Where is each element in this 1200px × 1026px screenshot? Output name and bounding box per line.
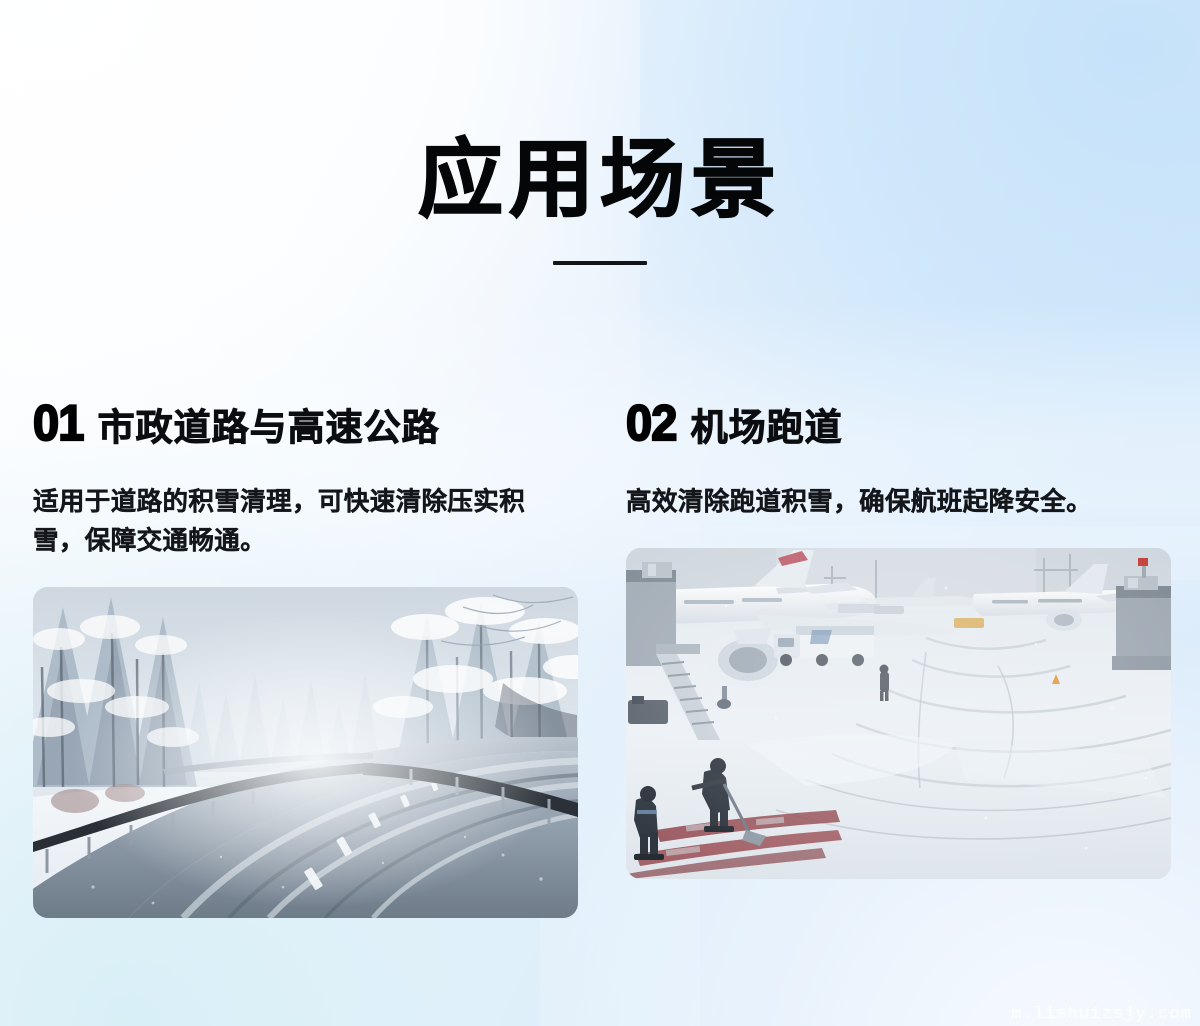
scenario-photo-snowy-highway	[33, 587, 578, 918]
scenario-card-01: 01 市政道路与高速公路 适用于道路的积雪清理，可快速清除压实积雪，保障交通畅通…	[33, 398, 578, 998]
scenario-description-01: 适用于道路的积雪清理，可快速清除压实积雪，保障交通畅通。	[33, 483, 573, 561]
scenario-heading-01: 01 市政道路与高速公路	[33, 398, 578, 454]
scenario-card-02: 02 机场跑道 高效清除跑道积雪，确保航班起降安全。	[626, 398, 1171, 998]
scenario-number-02: 02	[626, 398, 676, 448]
scenario-title-01: 市政道路与高速公路	[98, 409, 440, 446]
title-divider	[553, 261, 647, 265]
application-scenarios-page: 应用场景 01 市政道路与高速公路 适用于道路的积雪清理，可快速清除压实积雪，保…	[0, 0, 1200, 1026]
scenario-photo-airport-runway	[626, 548, 1171, 879]
scenario-title-02: 机场跑道	[691, 409, 843, 446]
scenario-columns: 01 市政道路与高速公路 适用于道路的积雪清理，可快速清除压实积雪，保障交通畅通…	[0, 398, 1200, 998]
page-title: 应用场景	[0, 138, 1200, 223]
scenario-description-02: 高效清除跑道积雪，确保航班起降安全。	[626, 483, 1171, 522]
scenario-heading-02: 02 机场跑道	[626, 398, 1171, 454]
scenario-number-01: 01	[33, 398, 83, 448]
site-watermark: m.lishuizsjy.com	[1011, 1005, 1192, 1024]
